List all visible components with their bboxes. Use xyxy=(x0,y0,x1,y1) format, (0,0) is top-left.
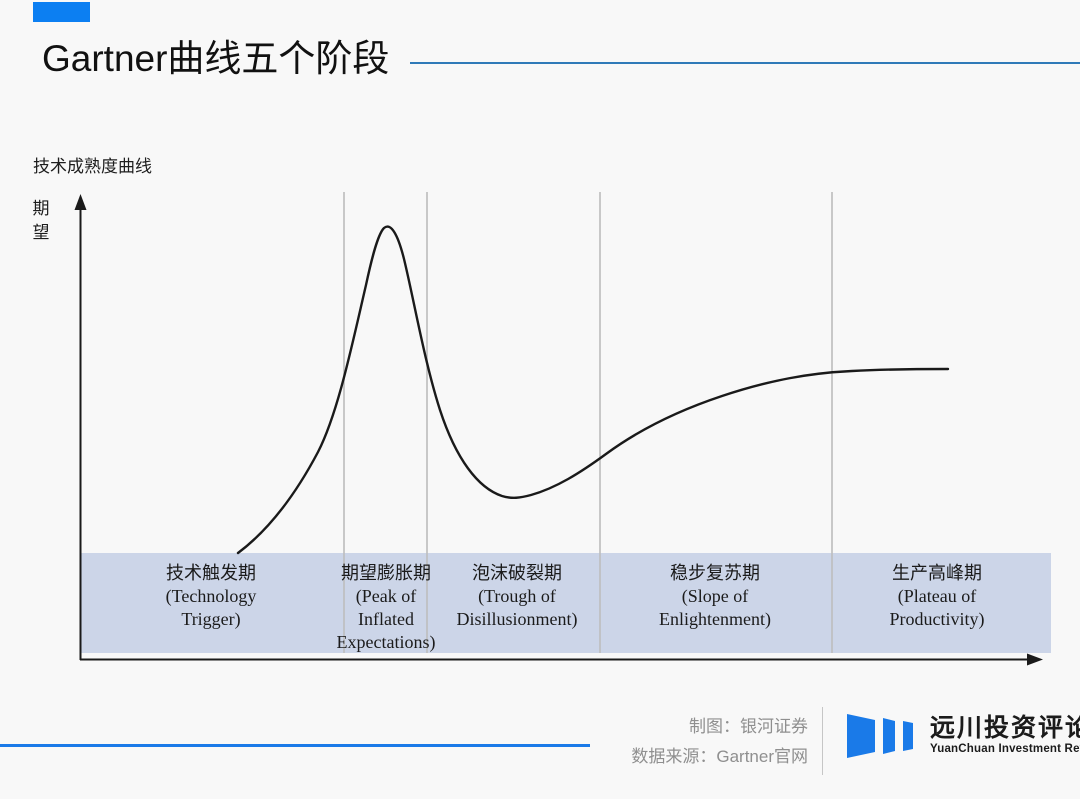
gartner-hype-cycle-chart: 技术成熟度曲线 期望 xyxy=(0,0,1080,799)
brand-text: 远川投资评论 YuanChuan Investment Review xyxy=(930,714,1080,756)
stage-label-cn: 稳步复苏期 xyxy=(605,562,825,585)
chart-svg xyxy=(0,0,1080,799)
y-axis xyxy=(75,194,87,660)
three-bars-icon xyxy=(845,712,919,758)
stage-label-slope-of-enlightenment: 稳步复苏期 (Slope of Enlightenment) xyxy=(605,562,825,631)
stage-label-en-2: Trigger) xyxy=(106,608,316,631)
footer-credit: 制图：银河证券 数据来源：Gartner官网 xyxy=(631,712,808,772)
stage-label-cn: 生产高峰期 xyxy=(837,562,1037,585)
stage-label-plateau-of-productivity: 生产高峰期 (Plateau of Productivity) xyxy=(837,562,1037,631)
stage-label-en-2: Enlightenment) xyxy=(605,608,825,631)
brand-logo: 远川投资评论 YuanChuan Investment Review xyxy=(845,712,1080,758)
stage-label-cn: 泡沫破裂期 xyxy=(427,562,607,585)
stage-label-en-1: (Technology xyxy=(106,585,316,608)
brand-name-en: YuanChuan Investment Review xyxy=(930,742,1080,756)
stage-label-en-2: Disillusionment) xyxy=(427,608,607,631)
slide-canvas: Gartner曲线五个阶段 技术成熟度曲线 期望 xyxy=(0,0,1080,799)
stage-label-en-1: (Slope of xyxy=(605,585,825,608)
stage-label-trough-of-disillusionment: 泡沫破裂期 (Trough of Disillusionment) xyxy=(427,562,607,631)
bottom-rule xyxy=(0,744,590,747)
stage-label-en-2: Productivity) xyxy=(837,608,1037,631)
stage-label-cn: 技术触发期 xyxy=(106,562,316,585)
footer-divider xyxy=(822,707,823,775)
stage-label-en-1: (Trough of xyxy=(427,585,607,608)
stage-label-en-3: Expectations) xyxy=(316,631,456,654)
footer-credit-data-source: 数据来源：Gartner官网 xyxy=(631,742,808,772)
x-axis xyxy=(80,654,1043,666)
brand-name-cn: 远川投资评论 xyxy=(930,714,1080,742)
stage-label-en-1: (Plateau of xyxy=(837,585,1037,608)
stage-label-technology-trigger: 技术触发期 (Technology Trigger) xyxy=(106,562,316,631)
brand-mark-icon xyxy=(845,712,919,758)
footer-credit-chart-by: 制图：银河证券 xyxy=(631,712,808,742)
